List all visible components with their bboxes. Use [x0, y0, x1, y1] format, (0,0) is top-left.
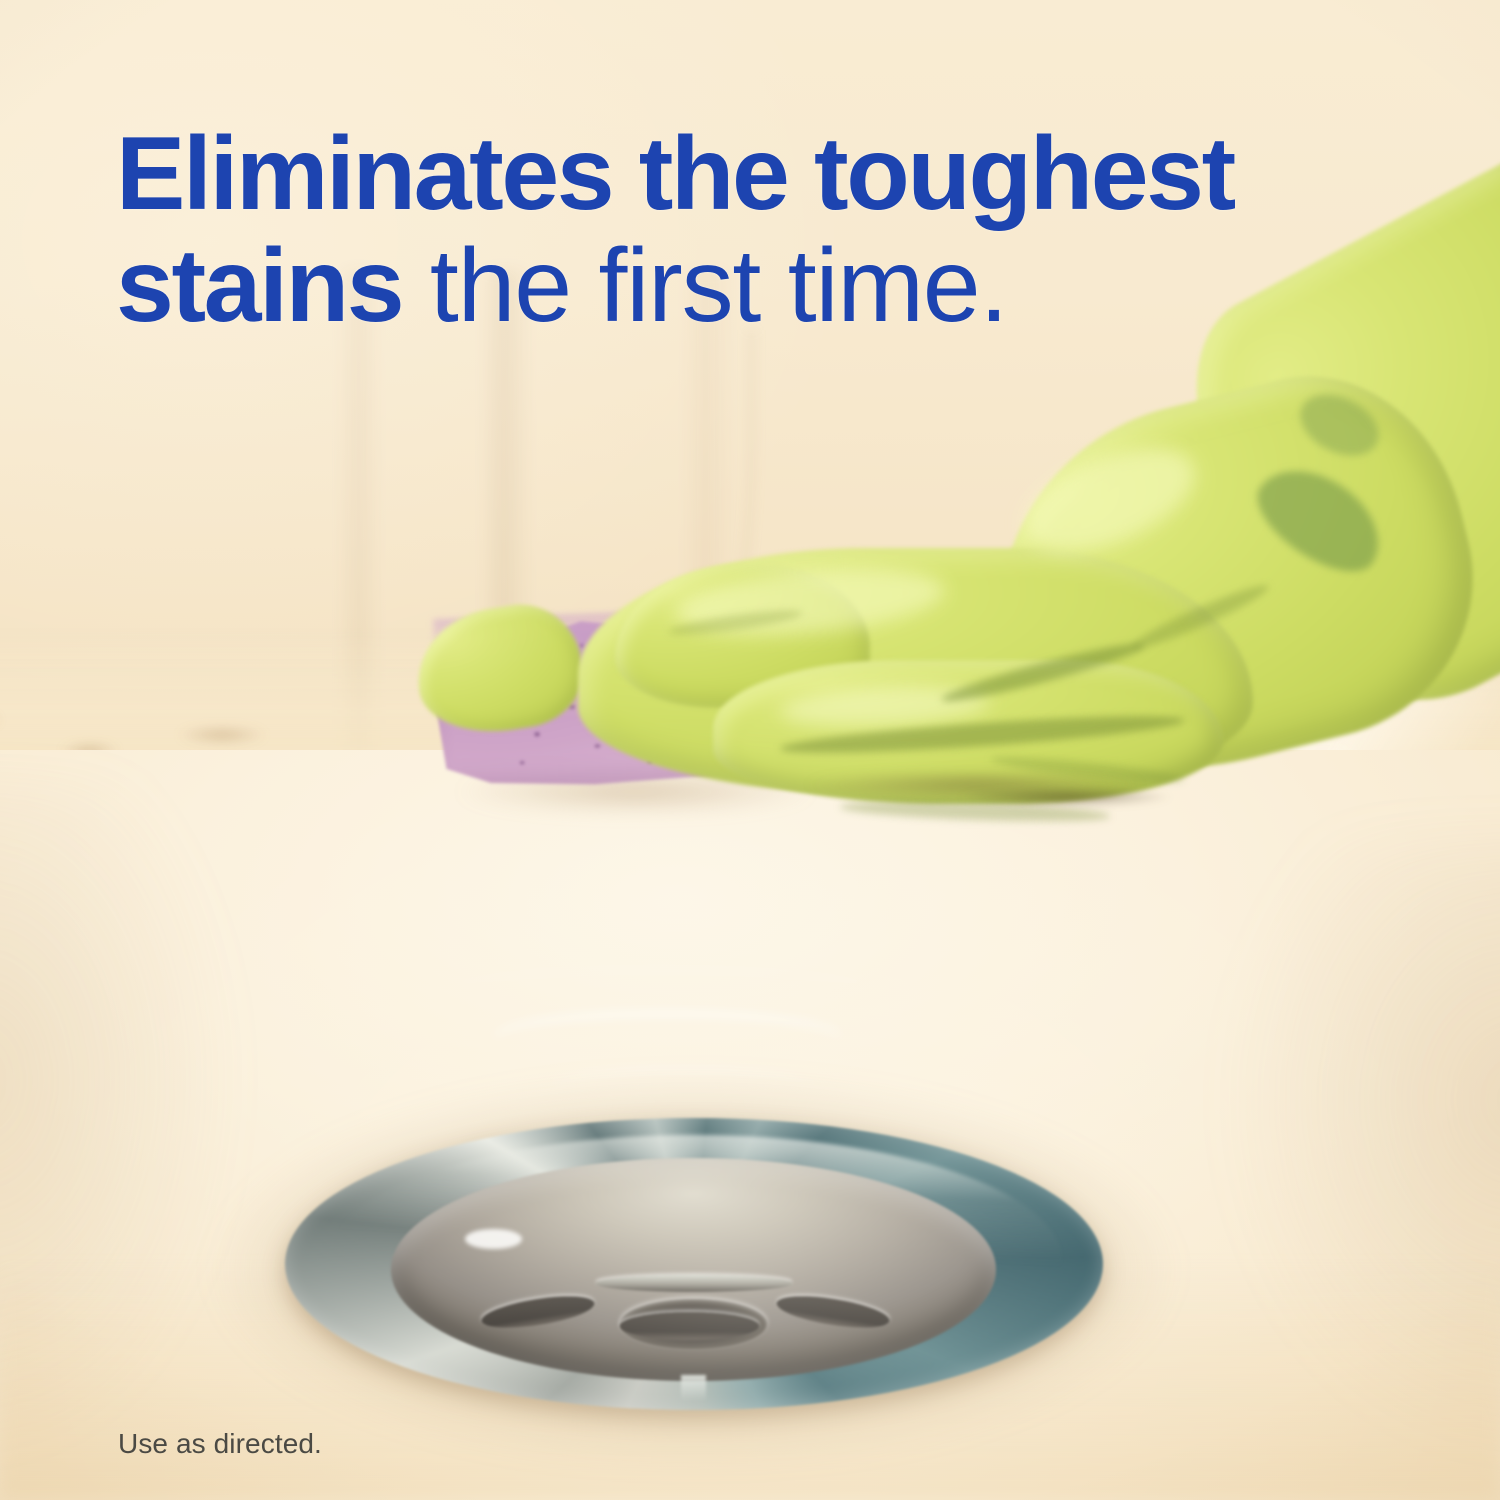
headline-line-2-light: the first time. [402, 228, 1007, 344]
ad-creative: Eliminates the toughest stains the first… [0, 0, 1500, 1500]
disclaimer-text: Use as directed. [118, 1428, 322, 1460]
headline-line-2-bold: stains [116, 228, 402, 344]
glove-contact-shadow-dark [930, 785, 1200, 809]
headline-line-1: Eliminates the toughest [116, 116, 1234, 232]
headline: Eliminates the toughest stains the first… [116, 118, 1396, 343]
glove-thumb [408, 595, 590, 742]
